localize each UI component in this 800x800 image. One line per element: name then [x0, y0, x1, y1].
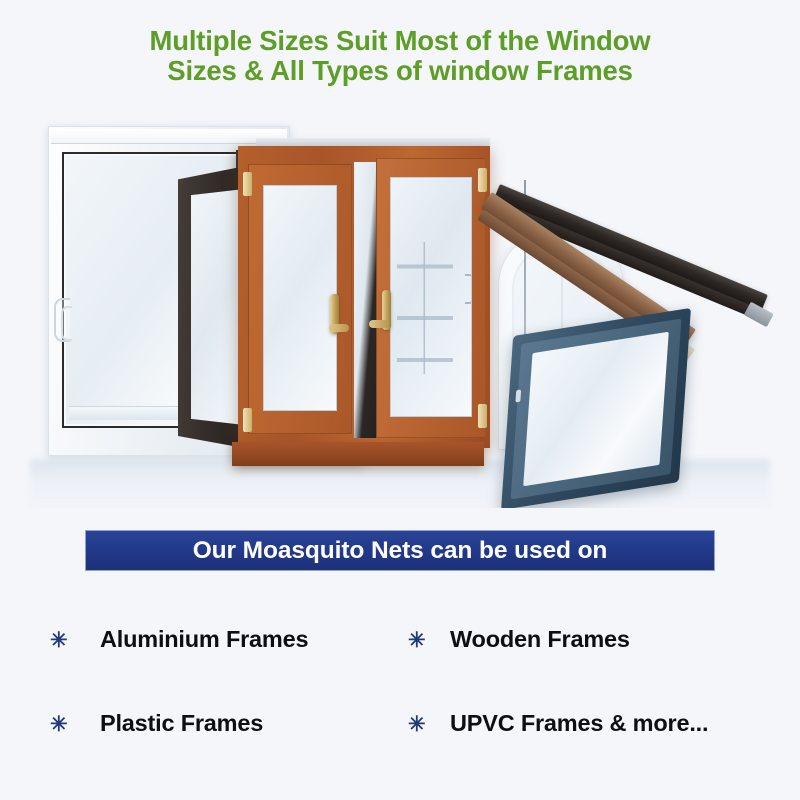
list-item-label: Aluminium Frames	[100, 626, 308, 653]
asterisk-bullet-icon: ✳	[408, 714, 434, 735]
wood-window-hinge-bottom-left-icon	[243, 408, 252, 432]
steel-blue-tilted-sash	[501, 308, 691, 508]
dark-tilted-frame-end-cap	[744, 302, 774, 328]
list-item: ✳ Aluminium Frames	[50, 626, 308, 653]
wood-window-left-glass	[263, 185, 337, 411]
asterisk-bullet-icon: ✳	[50, 714, 76, 735]
list-item: ✳ UPVC Frames & more...	[408, 710, 708, 737]
frame-types-list: ✳ Aluminium Frames ✳ Wooden Frames ✳ Pla…	[0, 600, 800, 760]
white-window-handle-icon	[54, 298, 70, 342]
product-image-window-frames	[0, 108, 800, 508]
wood-window-right-brass-handle-icon	[382, 290, 391, 330]
page-title: Multiple Sizes Suit Most of the Window S…	[0, 26, 800, 86]
wood-window-hinge-top-left-icon	[243, 172, 252, 196]
wood-window-sill	[232, 442, 484, 466]
wood-window-left-brass-handle-icon	[330, 294, 339, 334]
list-item-label: Wooden Frames	[450, 626, 630, 653]
section-banner-usage: Our Moasquito Nets can be used on	[85, 530, 715, 571]
section-banner-title: Our Moasquito Nets can be used on	[193, 537, 608, 565]
asterisk-bullet-icon: ✳	[408, 630, 434, 651]
page-title-line-1: Multiple Sizes Suit Most of the Window	[0, 26, 800, 56]
page-title-line-2: Sizes & All Types of window Frames	[0, 56, 800, 86]
list-item-label: UPVC Frames & more...	[450, 710, 708, 737]
list-item: ✳ Wooden Frames	[408, 626, 630, 653]
tilted-frames-group	[486, 178, 800, 508]
blue-sash-glass	[523, 332, 669, 487]
list-item-label: Plastic Frames	[100, 710, 263, 737]
list-item: ✳ Plastic Frames	[50, 710, 263, 737]
asterisk-bullet-icon: ✳	[50, 630, 76, 651]
